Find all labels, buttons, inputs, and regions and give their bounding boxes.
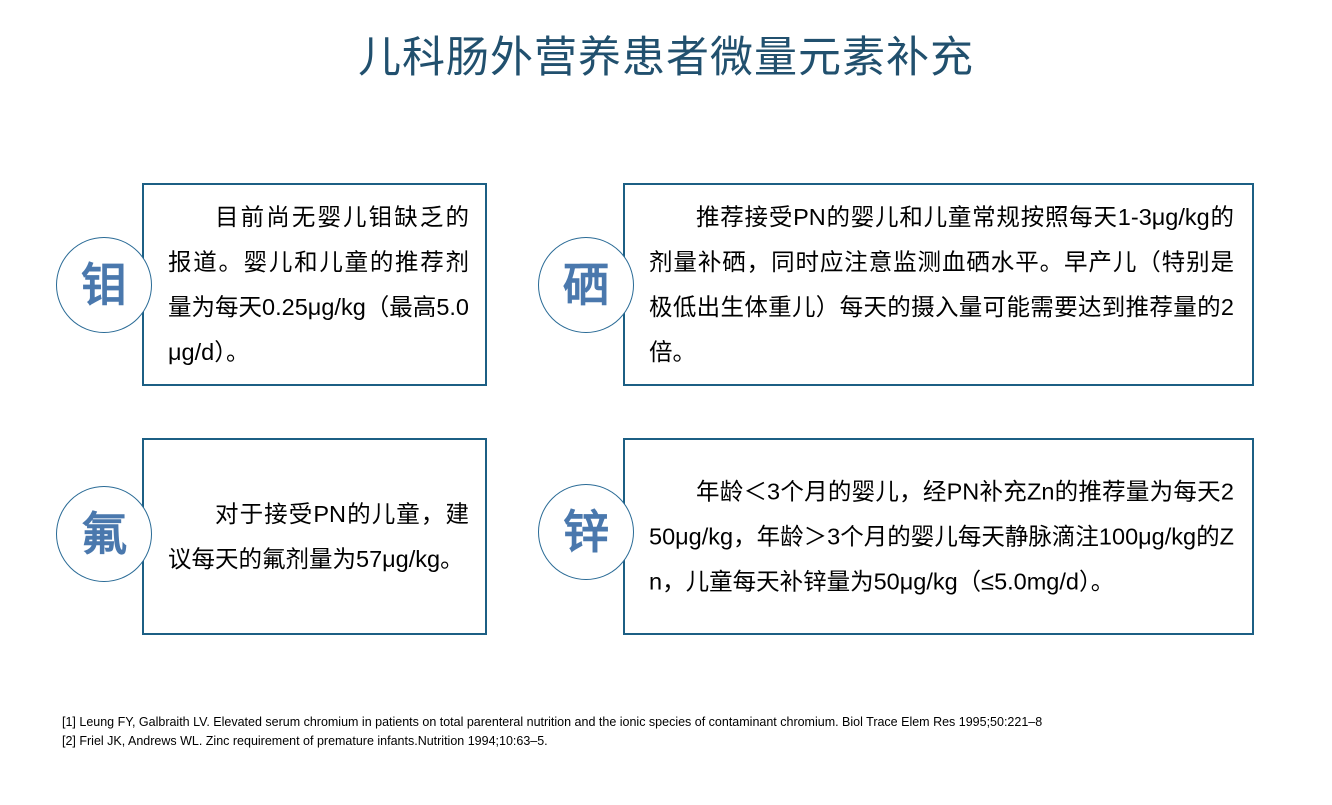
element-badge-fluorine: 氟 [56,486,152,582]
element-card-zinc: 年龄＜3个月的婴儿，经PN补充Zn的推荐量为每天250μg/kg，年龄＞3个月的… [623,438,1254,635]
reference-item: [1] Leung FY, Galbraith LV. Elevated ser… [62,713,1262,732]
element-badge-label: 锌 [563,509,609,555]
element-card-fluorine: 对于接受PN的儿童，建议每天的氟剂量为57μg/kg。 [142,438,487,635]
element-card-body: 年龄＜3个月的婴儿，经PN补充Zn的推荐量为每天250μg/kg，年龄＞3个月的… [625,469,1252,604]
element-card-body: 目前尚无婴儿钼缺乏的报道。婴儿和儿童的推荐剂量为每天0.25μg/kg（最高5.… [144,195,485,375]
element-card-molybdenum: 目前尚无婴儿钼缺乏的报道。婴儿和儿童的推荐剂量为每天0.25μg/kg（最高5.… [142,183,487,386]
element-card-body: 对于接受PN的儿童，建议每天的氟剂量为57μg/kg。 [144,492,485,582]
element-badge-label: 氟 [81,511,127,557]
element-badge-label: 硒 [563,262,609,308]
references-block: [1] Leung FY, Galbraith LV. Elevated ser… [62,713,1262,751]
page-title: 儿科肠外营养患者微量元素补充 [0,30,1332,86]
element-card-selenium: 推荐接受PN的婴儿和儿童常规按照每天1-3μg/kg的剂量补硒，同时应注意监测血… [623,183,1254,386]
element-badge-zinc: 锌 [538,484,634,580]
element-badge-molybdenum: 钼 [56,237,152,333]
element-badge-label: 钼 [81,262,127,308]
element-card-body: 推荐接受PN的婴儿和儿童常规按照每天1-3μg/kg的剂量补硒，同时应注意监测血… [625,195,1252,375]
reference-item: [2] Friel JK, Andrews WL. Zinc requireme… [62,732,1262,751]
element-badge-selenium: 硒 [538,237,634,333]
